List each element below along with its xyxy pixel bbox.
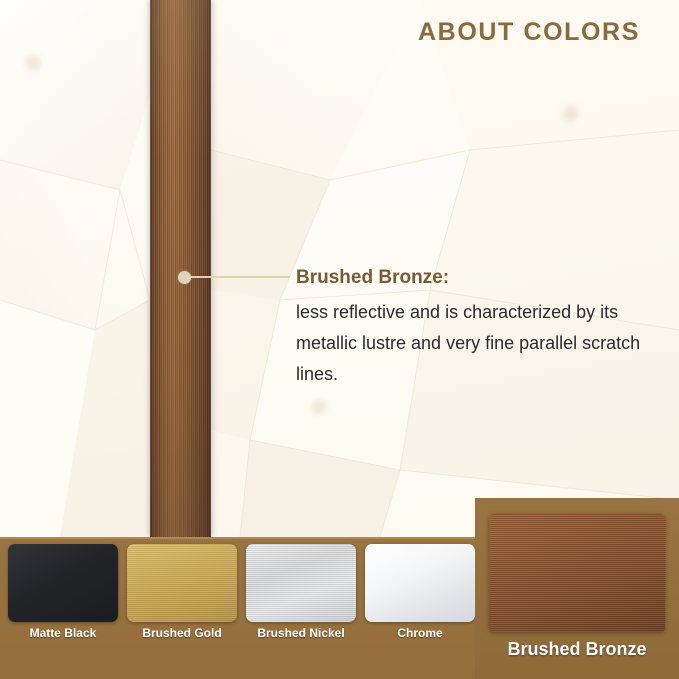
swatch-label-brushed-bronze: Brushed Bronze — [475, 639, 679, 660]
swatch-label-brushed-gold: Brushed Gold — [127, 626, 237, 640]
swatch-label-brushed-nickel: Brushed Nickel — [246, 626, 356, 640]
callout-body: less reflective and is characterized by … — [296, 297, 656, 390]
featured-color-panel: Brushed Bronze — [475, 498, 679, 679]
brushed-bronze-product-bar — [150, 0, 211, 537]
bokeh-dot-2 — [563, 106, 579, 122]
bokeh-dot-3 — [312, 400, 326, 414]
swatch-label-matte-black: Matte Black — [8, 626, 118, 640]
infographic-canvas: ABOUT COLORS Brushed Bronze: less reflec… — [0, 0, 679, 679]
swatch-brushed-nickel[interactable] — [246, 544, 356, 622]
swatch-brushed-bronze[interactable] — [489, 514, 665, 632]
callout-leader-line — [190, 276, 290, 278]
product-scene: ABOUT COLORS Brushed Bronze: less reflec… — [0, 0, 679, 537]
callout-text-block: Brushed Bronze: less reflective and is c… — [296, 263, 656, 390]
swatch-brushed-gold[interactable] — [127, 544, 237, 622]
bokeh-dot-1 — [26, 55, 41, 70]
swatch-chrome[interactable] — [365, 544, 475, 622]
swatch-label-chrome: Chrome — [365, 626, 475, 640]
swatch-matte-black[interactable] — [8, 544, 118, 622]
callout-heading: Brushed Bronze: — [296, 263, 656, 293]
page-title: ABOUT COLORS — [418, 18, 640, 47]
